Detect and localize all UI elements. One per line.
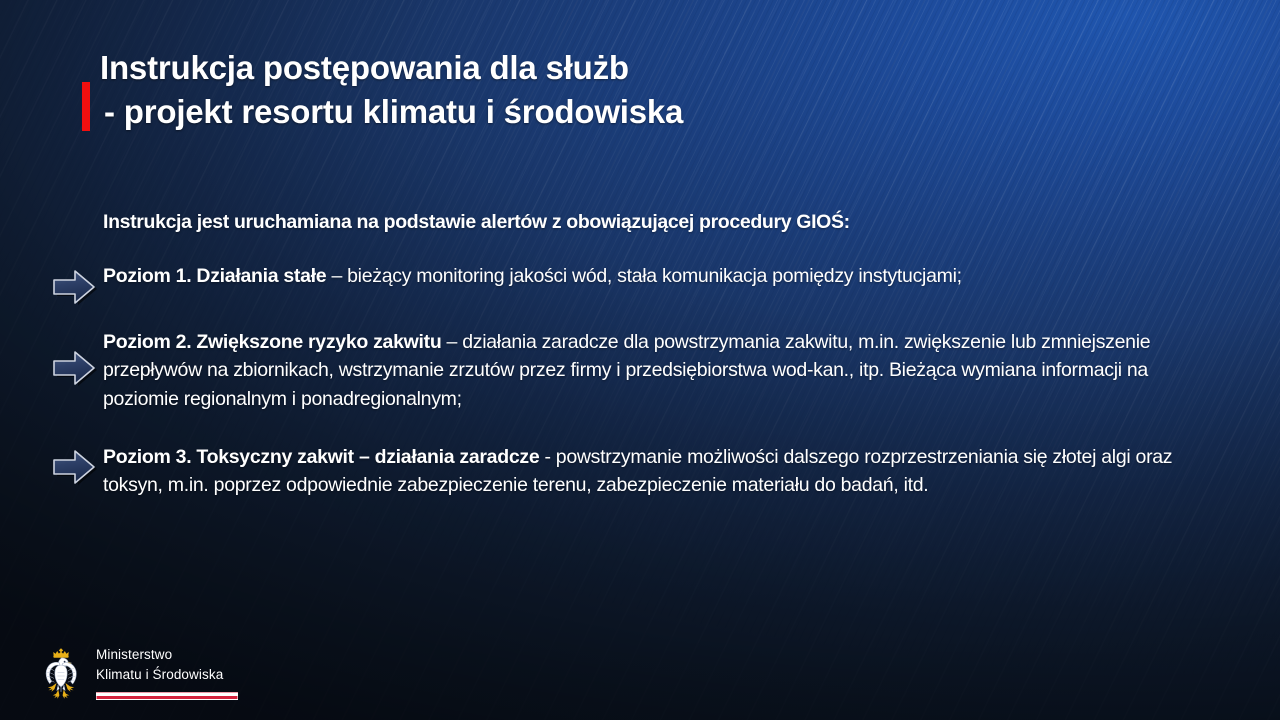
polish-flag-bar [96,692,238,700]
list-item-lead: Poziom 1. Działania stałe [103,265,326,287]
list-item: Poziom 1. Działania stałe – bieżący moni… [0,262,1280,302]
intro-text: Instrukcja jest uruchamiana na podstawie… [103,211,850,234]
right-arrow-bullet-icon [50,349,98,387]
list-item-text: Poziom 1. Działania stałe – bieżący moni… [103,262,1200,290]
ministry-logo-text-block: Ministerstwo Klimatu i Środowiska [96,646,238,701]
title-line-2: - projekt resortu klimatu i środowiska [100,90,1132,134]
list-item-lead: Poziom 3. Toksyczny zakwit – działania z… [103,446,539,468]
slide-canvas: Instrukcja postępowania dla służb - proj… [0,0,1280,720]
list-item-text: Poziom 3. Toksyczny zakwit – działania z… [103,443,1200,500]
ministry-name-line-2: Klimatu i Środowiska [96,666,238,684]
ministry-name-line-1: Ministerstwo [96,646,238,664]
right-arrow-bullet-icon [50,268,98,306]
page-title: Instrukcja postępowania dla służb - proj… [100,46,1132,134]
list-item: Poziom 2. Zwiększone ryzyko zakwitu – dz… [0,328,1280,413]
right-arrow-bullet-icon [50,448,98,486]
ministry-logo: Ministerstwo Klimatu i Środowiska [36,644,238,702]
title-accent-bar [82,82,90,131]
list-item-text: Poziom 2. Zwiększone ryzyko zakwitu – dz… [103,328,1200,413]
list-item: Poziom 3. Toksyczny zakwit – działania z… [0,443,1280,500]
list-item-lead: Poziom 2. Zwiększone ryzyko zakwitu [103,331,441,353]
bullet-list: Poziom 1. Działania stałe – bieżący moni… [0,262,1280,499]
slide-title-block: Instrukcja postępowania dla służb - proj… [82,46,1132,134]
list-item-rest: – bieżący monitoring jakości wód, stała … [326,265,961,287]
title-line-1: Instrukcja postępowania dla służb [100,46,1132,90]
polish-eagle-emblem-icon [36,644,86,702]
